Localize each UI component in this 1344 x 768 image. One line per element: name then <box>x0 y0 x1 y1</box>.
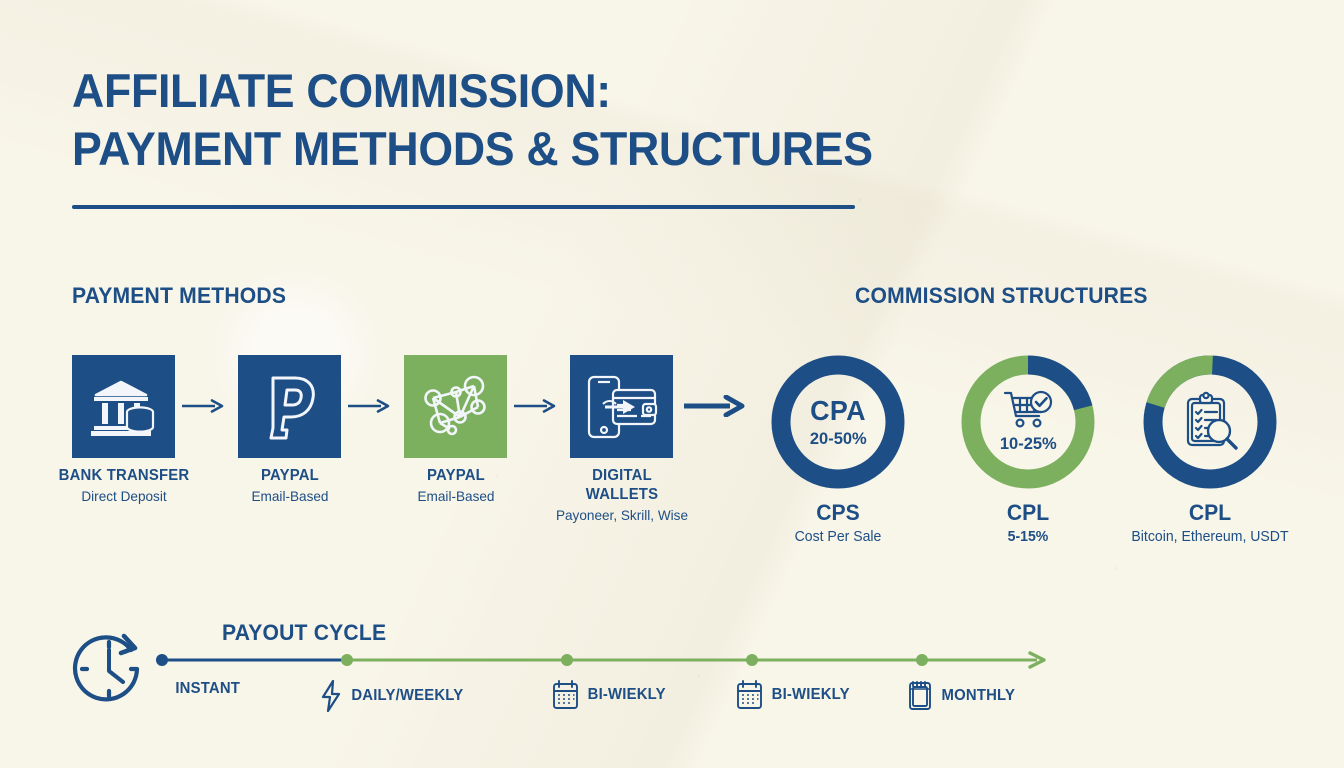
shopping-cart-check-icon <box>1003 390 1053 430</box>
payment-method-caption: DIGITAL WALLETS Payoneer, Skrill, Wise <box>542 467 702 524</box>
commission-structures-row: CPA 20-50% CPS Cost Per Sale <box>760 352 1320 552</box>
payment-method-tile-bank-transfer[interactable] <box>72 355 175 458</box>
payment-method-caption: PAYPAL Email-Based <box>210 467 370 505</box>
infographic-canvas: AFFILIATE COMMISSION: PAYMENT METHODS & … <box>0 0 1344 768</box>
timeline-item-instant[interactable]: INSTANT <box>174 680 241 698</box>
payment-method-caption: BANK TRANSFER Direct Deposit <box>44 467 204 505</box>
flow-arrow-icon <box>182 399 224 418</box>
phone-wallet-icon <box>585 374 659 440</box>
timeline-item-biweekly-1[interactable]: BI-WIEKLY <box>552 680 667 710</box>
flow-arrow-icon <box>514 399 556 418</box>
timeline-item-label: INSTANT <box>175 680 240 698</box>
payment-method-subtitle: Email-Based <box>212 488 367 505</box>
timeline-item-label: BI-WIEKLY <box>772 686 850 704</box>
timeline-item-label: DAILY/WEEKLY <box>351 687 463 705</box>
donut-chart-cpl-clipboard[interactable] <box>1140 352 1280 492</box>
timeline-item-label: BI-WIEKLY <box>588 686 666 704</box>
payment-method-tile-digital-wallets[interactable] <box>570 355 673 458</box>
donut-caption-sub: Bitcoin, Ethereum, USDT <box>1094 529 1327 545</box>
donut-caption-title: CPL <box>1095 500 1325 526</box>
timeline-item-biweekly-2[interactable]: BI-WIEKLY <box>736 680 851 710</box>
payout-cycle-title: PAYOUT CYCLE <box>222 620 386 646</box>
title-line-2: PAYMENT METHODS & STRUCTURES <box>72 120 927 178</box>
notebook-icon <box>907 680 933 711</box>
payment-methods-heading: PAYMENT METHODS <box>72 283 286 309</box>
payment-method-title: PAYPAL <box>379 467 533 486</box>
payment-method-title: DIGITAL <box>545 467 699 486</box>
paypal-p-icon <box>261 372 319 442</box>
payment-method-title: PAYPAL <box>213 467 367 486</box>
payment-method-subtitle: Direct Deposit <box>46 488 201 505</box>
donut-caption: CPL Bitcoin, Ethereum, USDT <box>1090 500 1330 545</box>
flow-arrow-icon <box>348 399 390 418</box>
payment-methods-row: BANK TRANSFER Direct Deposit PAYPAL Emai… <box>72 355 752 545</box>
timeline-item-label: MONTHLY <box>942 687 1016 705</box>
payment-method-tile-network[interactable] <box>404 355 507 458</box>
donut-chart-cpa[interactable]: CPA 20-50% <box>768 352 908 492</box>
donut-center-labels: 10-25% <box>958 352 1098 492</box>
donut-center-labels: CPA 20-50% <box>768 352 908 492</box>
calendar-icon <box>552 680 579 710</box>
lightning-bolt-icon <box>320 680 342 712</box>
title-divider <box>72 205 855 209</box>
clipboard-magnifier-icon <box>1179 391 1241 453</box>
payout-timeline[interactable] <box>62 648 1072 672</box>
payment-method-title: BANK TRANSFER <box>47 467 201 486</box>
payout-cycle-section: PAYOUT CYCLE INSTANT DAILY/WEEKLY <box>62 618 1282 728</box>
payment-method-title-line2: WALLETS <box>545 486 699 505</box>
donut-center-code: CPA <box>810 395 866 427</box>
donut-center-labels <box>1140 352 1280 492</box>
donut-chart-cpl-cart[interactable]: 10-25% <box>958 352 1098 492</box>
payment-method-subtitle: Payoneer, Skrill, Wise <box>544 507 699 524</box>
calendar-icon <box>736 680 763 710</box>
payment-method-tile-paypal[interactable] <box>238 355 341 458</box>
donut-center-percent: 20-50% <box>810 429 867 449</box>
title-line-1: AFFILIATE COMMISSION: <box>72 62 927 120</box>
commission-structures-heading: COMMISSION STRUCTURES <box>855 283 1148 309</box>
payment-method-caption: PAYPAL Email-Based <box>376 467 536 505</box>
page-title: AFFILIATE COMMISSION: PAYMENT METHODS & … <box>72 62 972 179</box>
timeline-item-daily-weekly[interactable]: DAILY/WEEKLY <box>320 680 466 712</box>
network-nodes-icon <box>420 371 492 443</box>
payment-method-subtitle: Email-Based <box>378 488 533 505</box>
flow-arrow-large-icon <box>684 395 746 422</box>
bank-coins-icon <box>91 376 157 438</box>
timeline-item-monthly[interactable]: MONTHLY <box>907 680 1017 711</box>
donut-center-percent: 10-25% <box>1000 434 1057 454</box>
